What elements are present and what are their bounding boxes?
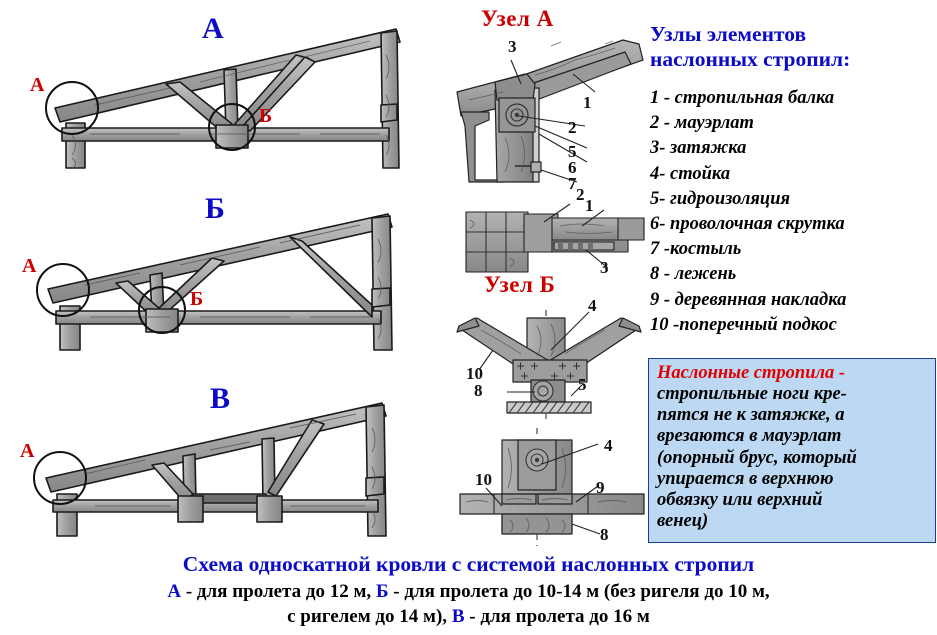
legend-title-line1: Узлы элементов <box>650 22 935 47</box>
caption-marker-a: А <box>167 581 181 602</box>
truss-b-letter: Б <box>205 192 225 226</box>
note-line: стропильные ноги кре- <box>657 384 929 405</box>
note-line: обвязку или верхний <box>657 490 929 511</box>
caption-text-2: - для пролета до 10-14 м (без ригеля до … <box>389 581 770 602</box>
truss-diagram-v: В А <box>0 372 460 557</box>
node-a-detail-title: Узел А <box>481 6 554 32</box>
node-a-upper-svg <box>455 30 645 190</box>
truss-v-node-a-label: А <box>20 440 34 463</box>
caption-text-3: с ригелем до 14 м), <box>287 606 452 627</box>
note-line: упирается в верхнюю <box>657 469 929 490</box>
diagram-page: А А Б <box>0 0 937 635</box>
note-heading: Наслонные стропила - <box>657 363 929 384</box>
node-b-lower-label-8: 8 <box>600 525 609 545</box>
truss-a-letter: А <box>202 12 224 46</box>
node-a-lower-label-1: 1 <box>585 196 594 216</box>
legend-item: 8 - лежень <box>650 262 935 287</box>
note-line: венец) <box>657 511 929 532</box>
legend-title-line2: наслонных стропил: <box>650 47 935 72</box>
legend-item: 4- стойка <box>650 162 935 187</box>
truss-a-node-b-label: Б <box>259 105 272 128</box>
note-box: Наслонные стропила - стропильные ноги кр… <box>648 358 936 543</box>
note-line: (опорный брус, который <box>657 448 929 469</box>
truss-diagram-b: Б А Б <box>0 185 460 380</box>
node-a-detail-upper <box>455 30 645 190</box>
legend-item: 9 - деревянная накладка <box>650 288 935 313</box>
caption-line-2: А - для пролета до 12 м, Б - для пролета… <box>0 581 937 603</box>
caption-text-4: - для пролета до 16 м <box>465 606 650 627</box>
node-b-lower-label-10: 10 <box>475 470 492 490</box>
truss-diagram-a: А А Б <box>0 0 460 190</box>
legend-item: 3- затяжка <box>650 136 935 161</box>
node-a-label-3: 3 <box>508 37 517 57</box>
bottom-caption: Схема односкатной кровли с системой насл… <box>0 552 937 628</box>
node-a-label-1: 1 <box>583 93 592 113</box>
node-b-upper-svg <box>455 296 645 421</box>
truss-v-letter: В <box>210 382 230 416</box>
legend-item: 6- проволочная скрутка <box>650 212 935 237</box>
caption-marker-v: В <box>452 606 465 627</box>
node-a-lower-label-2: 2 <box>576 185 585 205</box>
caption-main: Схема односкатной кровли с системой насл… <box>0 552 937 577</box>
node-b-detail-upper <box>455 296 645 421</box>
truss-b-node-a-label: А <box>22 255 36 278</box>
node-a-label-2: 2 <box>568 118 577 138</box>
caption-marker-b: Б <box>376 581 389 602</box>
legend-item: 10 -поперечный подкос <box>650 313 935 338</box>
truss-b-node-b-label: Б <box>190 288 203 311</box>
caption-line-3: с ригелем до 14 м), В - для пролета до 1… <box>0 606 937 628</box>
note-line: врезаются в мауэрлат <box>657 426 929 447</box>
legend-item: 1 - стропильная балка <box>650 86 935 111</box>
node-b-label-8: 8 <box>474 381 483 401</box>
node-b-detail-title: Узел Б <box>484 272 555 298</box>
node-b-label-5: 5 <box>578 375 587 395</box>
node-a-lower-label-3: 3 <box>600 258 609 278</box>
legend-block: Узлы элементов наслонных стропил: 1 - ст… <box>650 22 935 338</box>
legend-item: 7 -костыль <box>650 237 935 262</box>
truss-b-svg <box>0 185 460 380</box>
legend-item: 2 - мауэрлат <box>650 111 935 136</box>
truss-a-svg <box>0 0 460 190</box>
legend-item: 5- гидроизоляция <box>650 187 935 212</box>
caption-text-1: - для пролета до 12 м, <box>181 581 376 602</box>
node-b-label-4: 4 <box>588 296 597 316</box>
node-b-lower-label-9: 9 <box>596 478 605 498</box>
truss-a-node-a-label: А <box>30 74 44 97</box>
node-b-lower-label-4: 4 <box>604 436 613 456</box>
note-line: пятся не к затяжке, а <box>657 405 929 426</box>
